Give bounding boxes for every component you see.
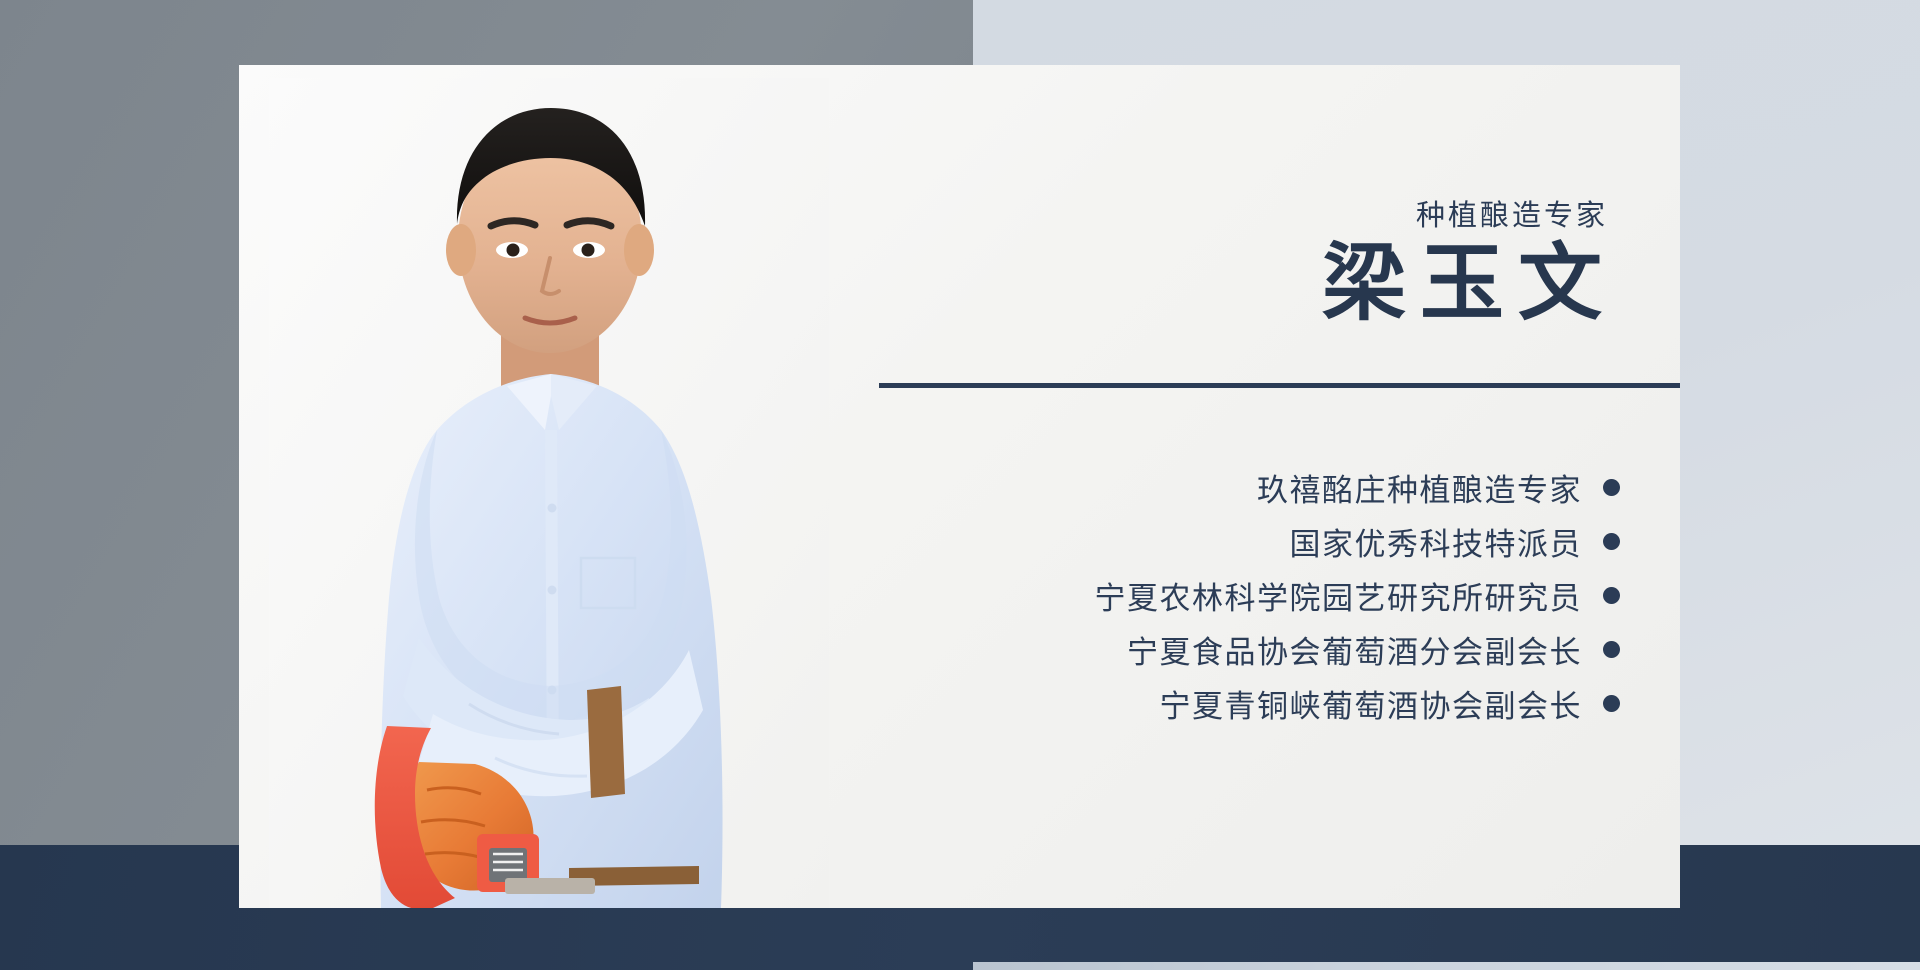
credential-text: 玖禧酩庄种植酿造专家 <box>1257 465 1582 510</box>
credential-text: 宁夏食品协会葡萄酒分会副会长 <box>1127 627 1582 672</box>
bullet-dot-icon <box>1603 641 1620 658</box>
list-item: 玖禧酩庄种植酿造专家 <box>1257 460 1620 514</box>
profile-card: 种植酿造专家 梁玉文 玖禧酩庄种植酿造专家 国家优秀科技特派员 宁夏农林科学院园… <box>239 65 1680 908</box>
list-item: 宁夏农林科学院园艺研究所研究员 <box>1095 568 1621 622</box>
credential-text: 国家优秀科技特派员 <box>1290 519 1583 564</box>
bullet-dot-icon <box>1603 533 1620 550</box>
background-bottom-strip <box>973 962 1920 970</box>
list-item: 国家优秀科技特派员 <box>1290 514 1621 568</box>
portrait-photo <box>269 78 829 908</box>
credentials-list: 玖禧酩庄种植酿造专家 国家优秀科技特派员 宁夏农林科学院园艺研究所研究员 宁夏食… <box>1095 460 1621 730</box>
portrait-container <box>239 65 859 908</box>
bullet-dot-icon <box>1603 479 1620 496</box>
profile-name: 梁玉文 <box>1322 240 1616 331</box>
bullet-dot-icon <box>1603 695 1620 712</box>
section-divider-line <box>879 383 1680 388</box>
credential-text: 宁夏农林科学院园艺研究所研究员 <box>1095 573 1583 618</box>
profile-subtitle: 种植酿造专家 <box>1416 192 1608 234</box>
bullet-dot-icon <box>1603 587 1620 604</box>
profile-banner: 种植酿造专家 梁玉文 玖禧酩庄种植酿造专家 国家优秀科技特派员 宁夏农林科学院园… <box>0 0 1920 970</box>
list-item: 宁夏青铜峡葡萄酒协会副会长 <box>1160 676 1621 730</box>
list-item: 宁夏食品协会葡萄酒分会副会长 <box>1127 622 1620 676</box>
credential-text: 宁夏青铜峡葡萄酒协会副会长 <box>1160 681 1583 726</box>
profile-info-column: 种植酿造专家 梁玉文 玖禧酩庄种植酿造专家 国家优秀科技特派员 宁夏农林科学院园… <box>879 65 1680 908</box>
